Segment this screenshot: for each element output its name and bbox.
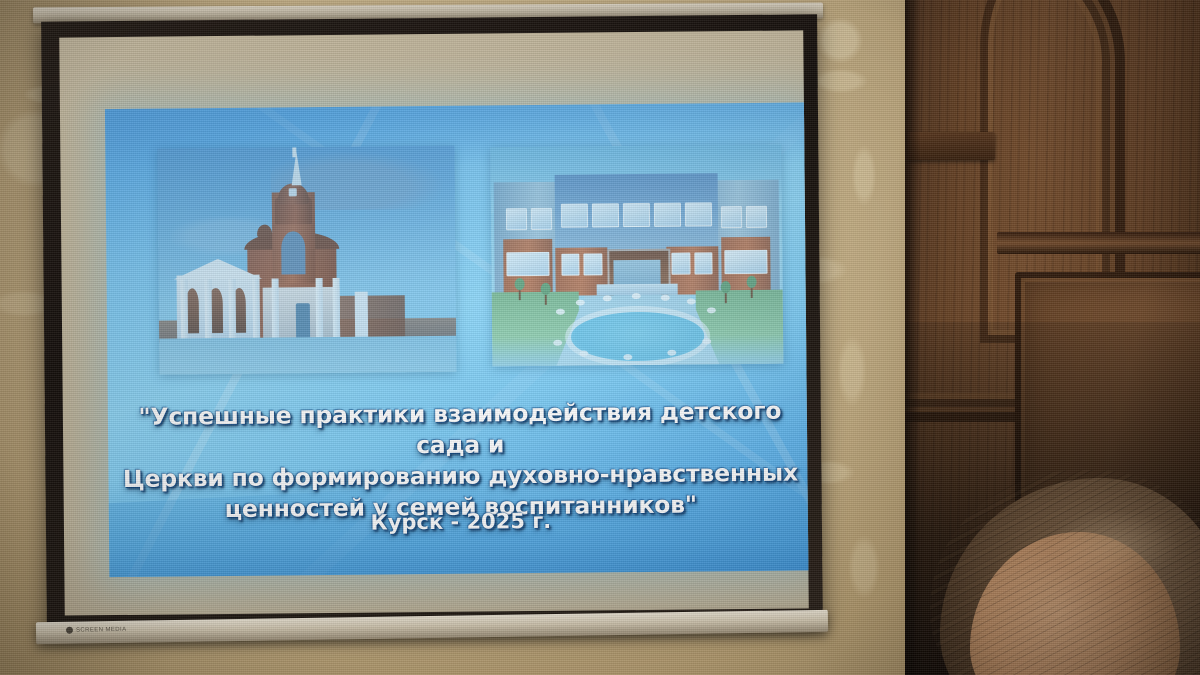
church-photo-blue-wash: [157, 146, 456, 375]
projected-slide: "Успешные практики взаимодействия детско…: [105, 102, 809, 577]
projector-screen-surface: "Успешные практики взаимодействия детско…: [59, 30, 809, 615]
kindergarten-photo-blue-wash: [490, 145, 783, 367]
door-horizontal-rail: [997, 232, 1200, 254]
church-photo: [157, 146, 456, 375]
brand-mark-icon: [66, 627, 73, 634]
screen-brand-logo: SCREEN MEDIA: [66, 626, 127, 634]
attendee-head-silhouette: [930, 470, 1200, 675]
person-hair-strands: [930, 470, 1200, 675]
person-highlight: [1050, 510, 1180, 580]
projector-screen-frame: "Успешные практики взаимодействия детско…: [41, 14, 823, 631]
kindergarten-photo: [490, 145, 783, 367]
presentation-room-scene: "Успешные практики взаимодействия детско…: [0, 0, 1200, 675]
screen-brand-label: SCREEN MEDIA: [76, 626, 127, 633]
